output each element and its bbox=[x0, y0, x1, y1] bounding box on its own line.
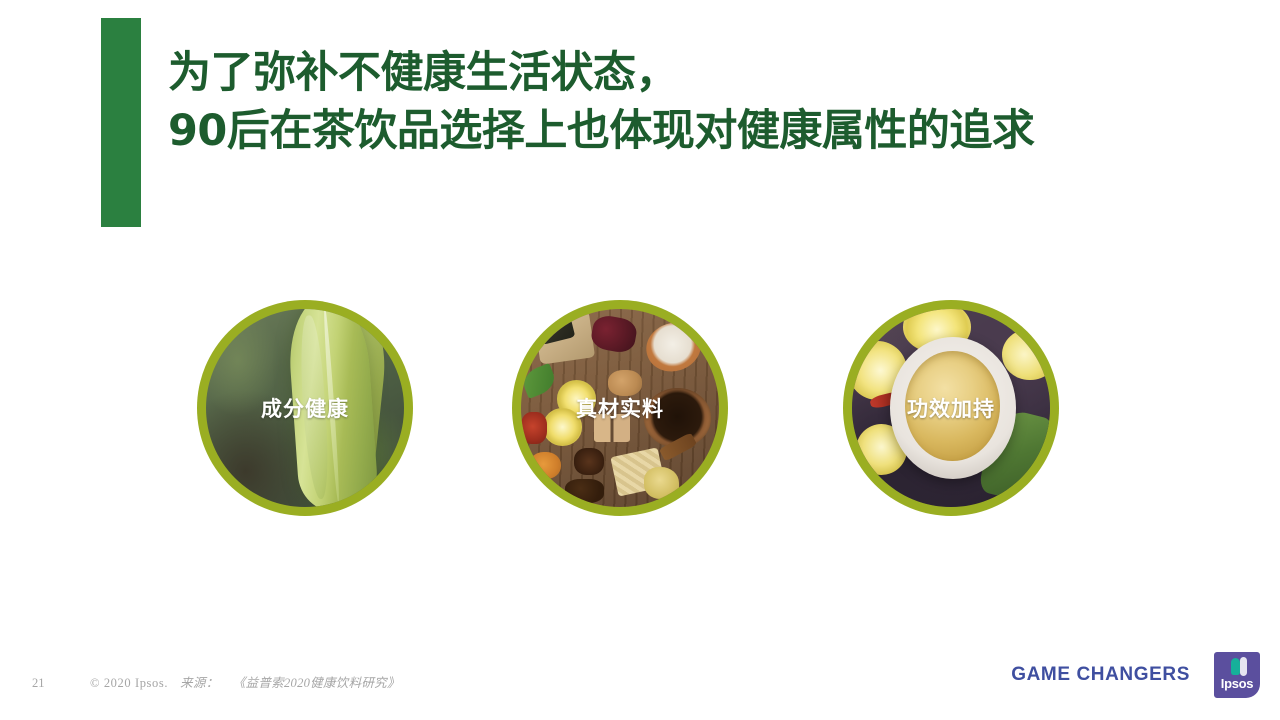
concept-circles-row: 成分健康 bbox=[0, 300, 1280, 530]
game-changers-tagline: GAME CHANGERS bbox=[1011, 664, 1190, 686]
dried-ginger-shape bbox=[644, 467, 680, 499]
slide-canvas: 为了弥补不健康生活状态， 90后在茶饮品选择上也体现对健康属性的追求 成分健康 bbox=[0, 0, 1280, 720]
concept-circle-ingredients-health[interactable]: 成分健康 bbox=[197, 300, 413, 516]
almonds-shape bbox=[608, 370, 642, 396]
tea-liquid-shape bbox=[905, 351, 1000, 462]
page-title-line-1: 为了弥补不健康生活状态， bbox=[168, 44, 1188, 102]
lemon-slice-shape bbox=[1002, 329, 1050, 380]
lemon-slice-shape bbox=[543, 408, 583, 446]
ipsos-logo-mark-teal bbox=[1231, 658, 1240, 675]
tea-leaf-bud-photo bbox=[206, 309, 404, 507]
concept-circle-real-materials[interactable]: 真材实料 bbox=[512, 300, 728, 516]
milk-bowl-shape bbox=[640, 315, 707, 377]
paper-bag-shape bbox=[534, 309, 596, 364]
source-label: 来源： bbox=[180, 672, 219, 691]
copyright-text: © 2020 Ipsos. bbox=[90, 676, 168, 691]
ipsos-logo: Ipsos bbox=[1214, 652, 1260, 698]
page-title: 为了弥补不健康生活状态， 90后在茶饮品选择上也体现对健康属性的追求 bbox=[168, 44, 1188, 160]
mint-leaf-shape bbox=[521, 363, 558, 399]
dried-berries-shape bbox=[590, 313, 639, 354]
footer-left: 21 © 2020 Ipsos. 来源： 《益普索2020健康饮料研究》 bbox=[32, 672, 400, 691]
source-title: 《益普索2020健康饮料研究》 bbox=[233, 672, 400, 691]
ipsos-wordmark: Ipsos bbox=[1214, 676, 1260, 691]
title-accent-bar bbox=[101, 18, 141, 227]
tea-leaf-background bbox=[206, 309, 404, 507]
ipsos-logo-mark-light bbox=[1240, 657, 1247, 676]
page-title-line-2: 90后在茶饮品选择上也体现对健康属性的追求 bbox=[168, 102, 1188, 160]
footer-brand: GAME CHANGERS Ipsos bbox=[1011, 652, 1260, 698]
concept-circle-efficacy-boost[interactable]: 功效加持 bbox=[843, 300, 1059, 516]
slide-page-number: 21 bbox=[32, 676, 90, 691]
star-anise-shape bbox=[574, 448, 604, 476]
lemon-herbal-tea-cup-photo bbox=[852, 309, 1050, 507]
goji-berries-shape bbox=[521, 412, 547, 444]
lemon-tea-background bbox=[852, 309, 1050, 507]
ingredients-on-wooden-table-photo bbox=[521, 309, 719, 507]
dried-apricot-shape bbox=[529, 452, 561, 480]
cloves-shape bbox=[565, 479, 605, 503]
sugar-cubes-shape bbox=[594, 414, 630, 442]
wooden-table-background bbox=[521, 309, 719, 507]
